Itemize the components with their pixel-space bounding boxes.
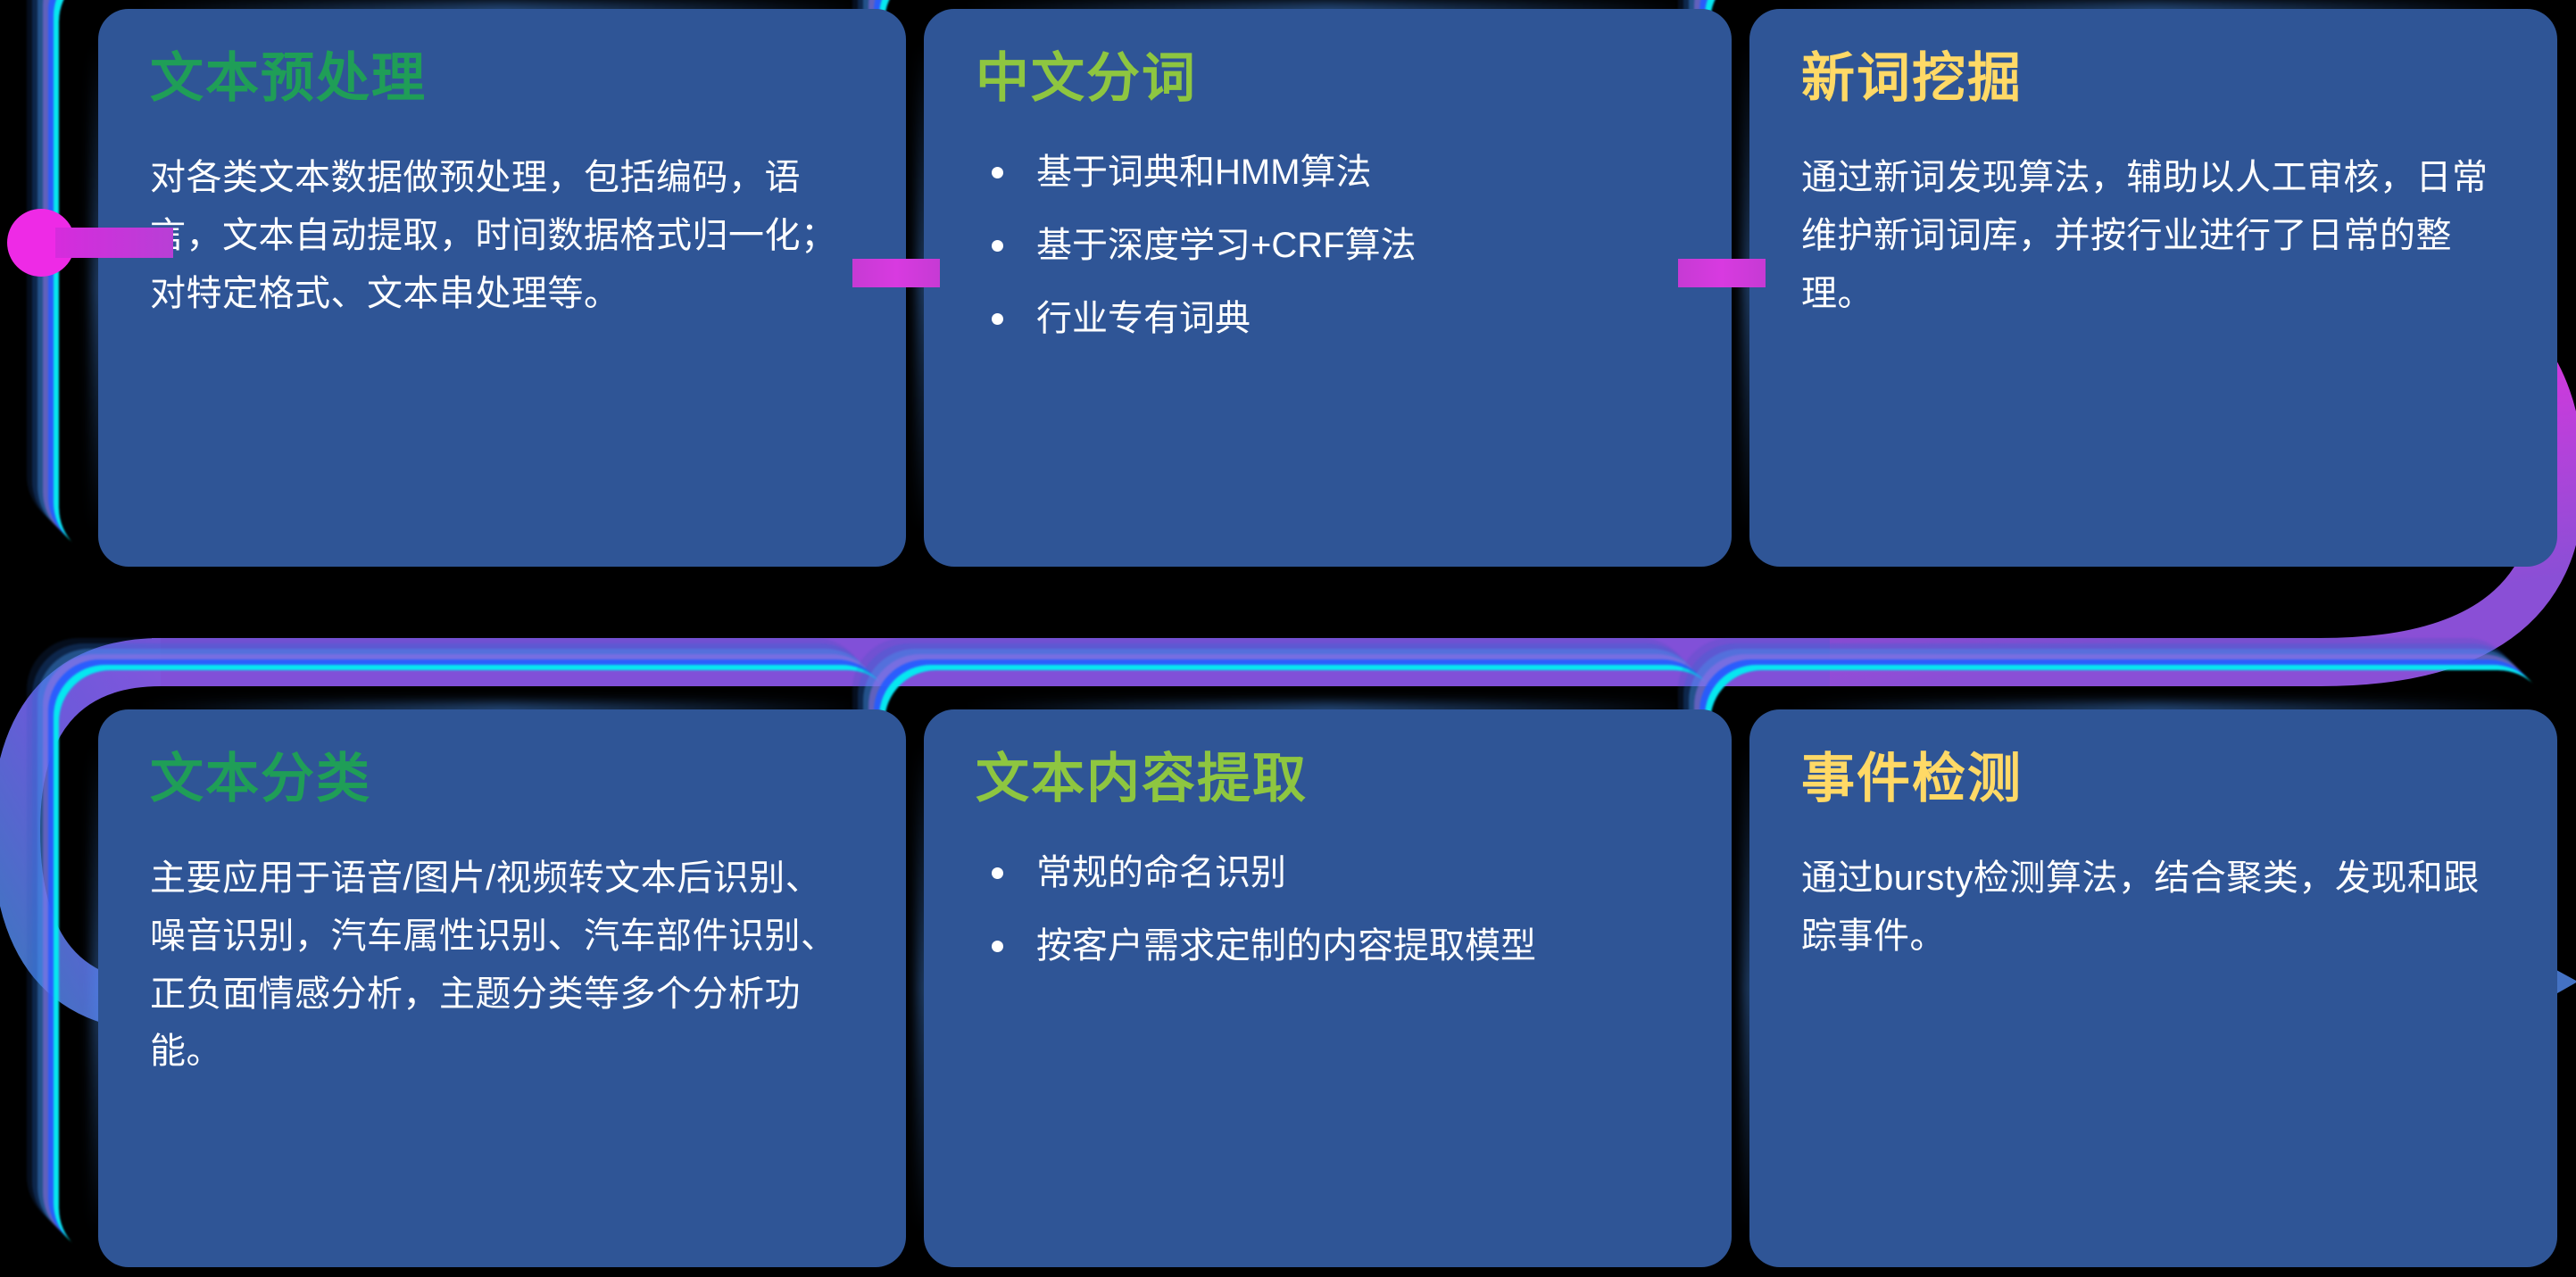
- link-bar-card1-card2: [852, 259, 940, 287]
- card-title: 文本分类: [150, 750, 854, 807]
- diagram-canvas: 文本预处理 对各类文本数据做预处理，包括编码，语言，文本自动提取，时间数据格式归…: [0, 0, 2576, 1277]
- card-surface: 文本预处理 对各类文本数据做预处理，包括编码，语言，文本自动提取，时间数据格式归…: [98, 9, 906, 567]
- card-bullet-list: 基于词典和HMM算法 基于深度学习+CRF算法 行业专有词典: [976, 149, 1680, 342]
- card-paragraph: 通过新词发现算法，辅助以人工审核，日常维护新词词库，并按行业进行了日常的整理。: [1801, 149, 2505, 322]
- card-chinese-word-segmentation[interactable]: 中文分词 基于词典和HMM算法 基于深度学习+CRF算法 行业专有词典: [924, 9, 1732, 567]
- card-paragraph: 主要应用于语音/图片/视频转文本后识别、噪音识别，汽车属性识别、汽车部件识别、正…: [150, 850, 854, 1081]
- list-item: 基于深度学习+CRF算法: [976, 222, 1680, 269]
- list-item: 常规的命名识别: [976, 850, 1680, 896]
- link-bar-card2-card3: [1678, 259, 1766, 287]
- card-body: 对各类文本数据做预处理，包括编码，语言，文本自动提取，时间数据格式归一化；对特定…: [150, 149, 854, 322]
- card-paragraph: 对各类文本数据做预处理，包括编码，语言，文本自动提取，时间数据格式归一化；对特定…: [150, 149, 854, 322]
- flow-start-stub: [55, 228, 173, 258]
- card-title: 文本内容提取: [976, 750, 1680, 807]
- card-text-content-extraction[interactable]: 文本内容提取 常规的命名识别 按客户需求定制的内容提取模型: [924, 709, 1732, 1267]
- card-surface: 新词挖掘 通过新词发现算法，辅助以人工审核，日常维护新词词库，并按行业进行了日常…: [1749, 9, 2557, 567]
- card-surface: 中文分词 基于词典和HMM算法 基于深度学习+CRF算法 行业专有词典: [924, 9, 1732, 567]
- card-body: 通过bursty检测算法，结合聚类，发现和跟踪事件。: [1801, 850, 2505, 966]
- list-item: 基于词典和HMM算法: [976, 149, 1680, 195]
- card-surface: 文本分类 主要应用于语音/图片/视频转文本后识别、噪音识别，汽车属性识别、汽车部…: [98, 709, 906, 1267]
- card-new-word-mining[interactable]: 新词挖掘 通过新词发现算法，辅助以人工审核，日常维护新词词库，并按行业进行了日常…: [1749, 9, 2557, 567]
- card-title: 新词挖掘: [1801, 50, 2505, 106]
- card-title: 事件检测: [1801, 750, 2505, 807]
- card-surface: 文本内容提取 常规的命名识别 按客户需求定制的内容提取模型: [924, 709, 1732, 1267]
- card-text-classification[interactable]: 文本分类 主要应用于语音/图片/视频转文本后识别、噪音识别，汽车属性识别、汽车部…: [98, 709, 906, 1267]
- card-title: 中文分词: [976, 50, 1680, 106]
- card-body: 主要应用于语音/图片/视频转文本后识别、噪音识别，汽车属性识别、汽车部件识别、正…: [150, 850, 854, 1081]
- top-row: 文本预处理 对各类文本数据做预处理，包括编码，语言，文本自动提取，时间数据格式归…: [98, 9, 2557, 567]
- card-event-detection[interactable]: 事件检测 通过bursty检测算法，结合聚类，发现和跟踪事件。: [1749, 709, 2557, 1267]
- bottom-row: 文本分类 主要应用于语音/图片/视频转文本后识别、噪音识别，汽车属性识别、汽车部…: [98, 709, 2557, 1267]
- card-paragraph: 通过bursty检测算法，结合聚类，发现和跟踪事件。: [1801, 850, 2505, 966]
- card-bullet-list: 常规的命名识别 按客户需求定制的内容提取模型: [976, 850, 1680, 969]
- list-item: 行业专有词典: [976, 295, 1680, 342]
- card-text-preprocessing[interactable]: 文本预处理 对各类文本数据做预处理，包括编码，语言，文本自动提取，时间数据格式归…: [98, 9, 906, 567]
- list-item: 按客户需求定制的内容提取模型: [976, 923, 1680, 969]
- card-surface: 事件检测 通过bursty检测算法，结合聚类，发现和跟踪事件。: [1749, 709, 2557, 1267]
- card-title: 文本预处理: [150, 50, 854, 106]
- card-body: 通过新词发现算法，辅助以人工审核，日常维护新词词库，并按行业进行了日常的整理。: [1801, 149, 2505, 322]
